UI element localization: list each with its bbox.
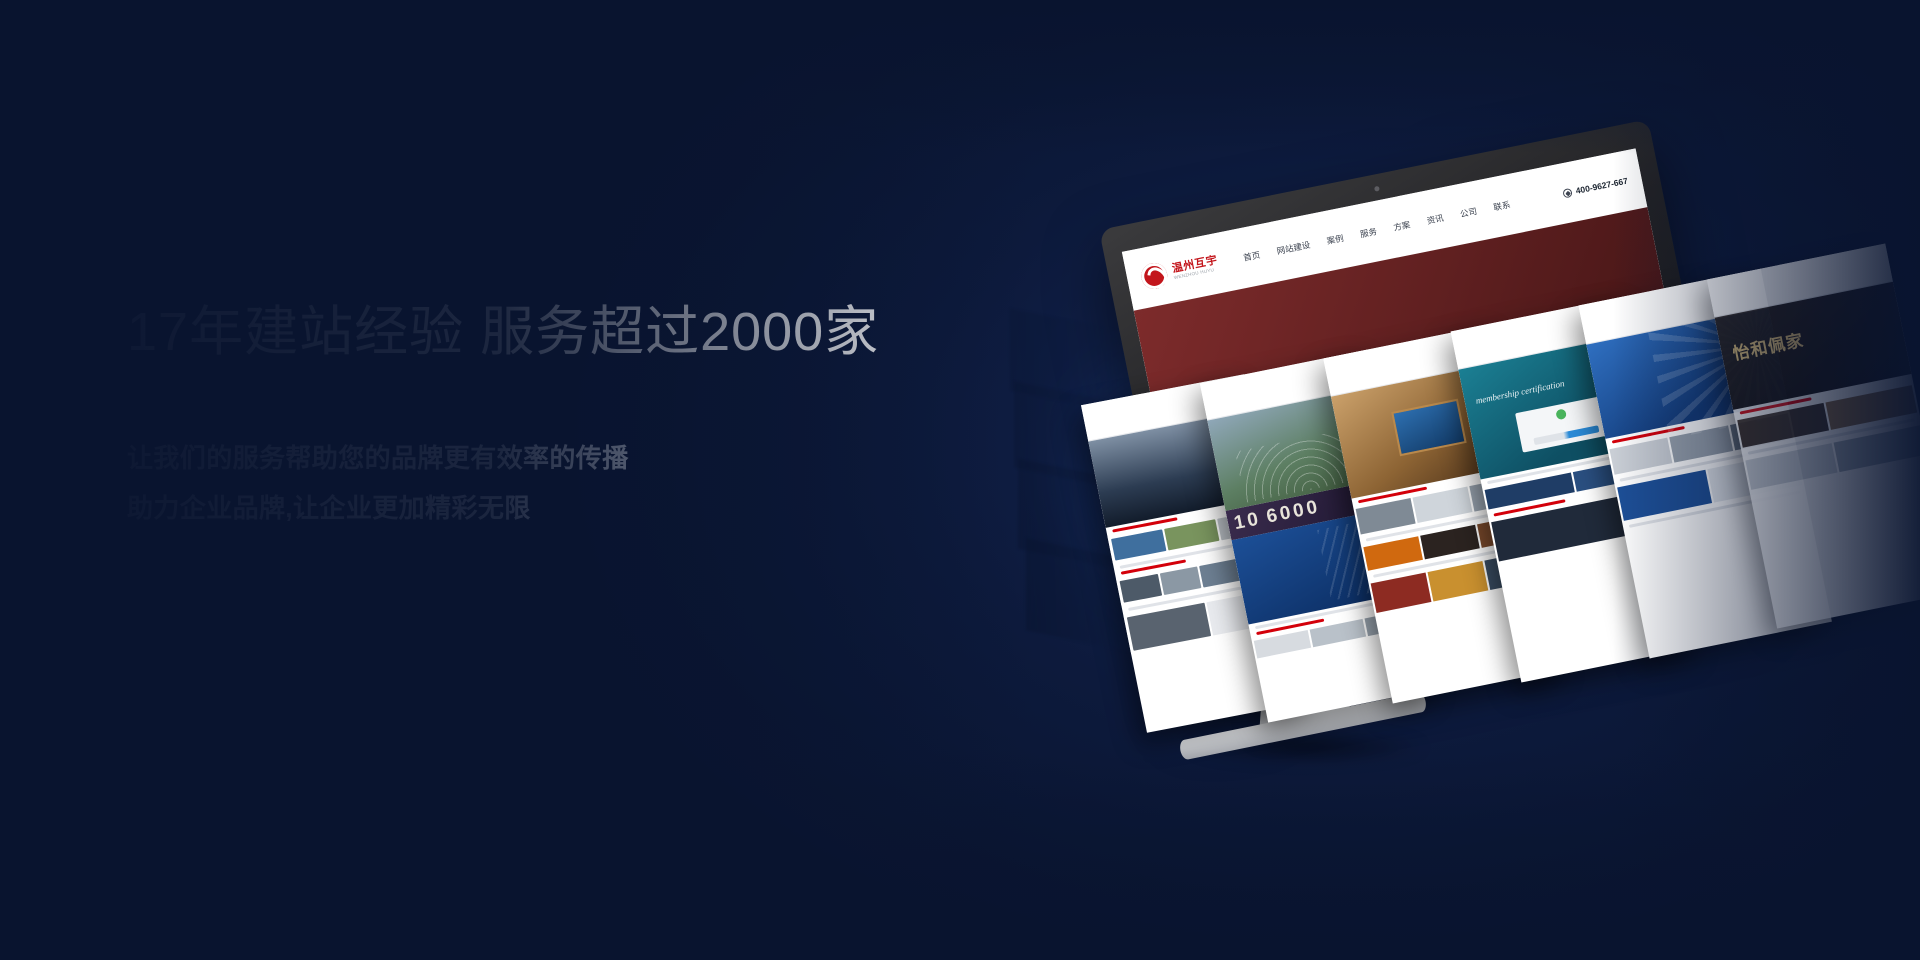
- monitor-showcase: 温州互宇 WENZHOU HUYU 首页 网站建设 案例 服务 方案 资讯 公司…: [1000, 150, 1920, 770]
- certification-label: membership certification: [1475, 379, 1565, 407]
- hero-banner: 17年建站经验 服务超过2000家 让我们的服务帮助您的品牌更有效率的传播 助力…: [0, 0, 1920, 960]
- stat-left: 10: [1232, 508, 1263, 535]
- page-title: 17年建站经验 服务超过2000家: [127, 300, 1007, 366]
- hero-subtitle: 让我们的服务帮助您的品牌更有效率的传播 助力企业品牌,让企业更加精彩无限: [127, 434, 1007, 534]
- hero-subtitle-line-2: 助力企业品牌,让企业更加精彩无限: [127, 484, 1007, 534]
- hero-subtitle-line-1: 让我们的服务帮助您的品牌更有效率的传播: [127, 434, 1007, 484]
- brand-headline: 怡和佩家: [1730, 325, 1806, 364]
- hero-copy: 17年建站经验 服务超过2000家 让我们的服务帮助您的品牌更有效率的传播 助力…: [127, 300, 1007, 534]
- website-panel-stack: 10 6000: [1000, 150, 1920, 770]
